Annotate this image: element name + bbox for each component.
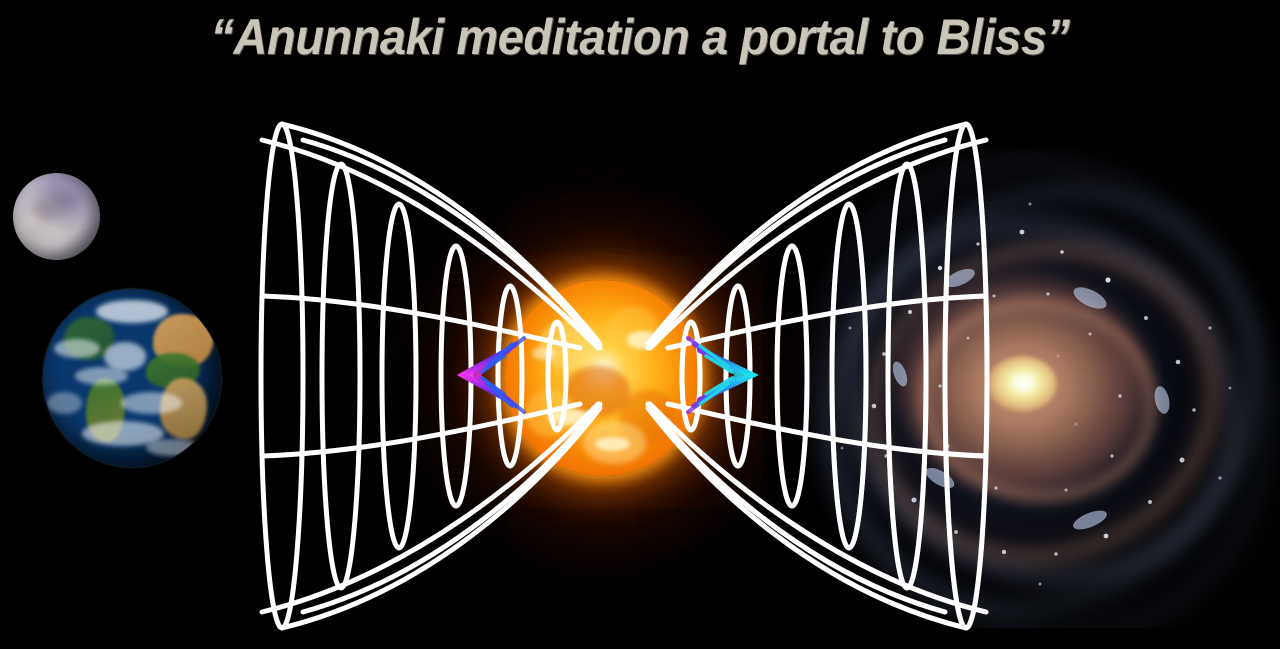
space-illustration-canvas: “Anunnaki meditation a portal to Bliss” — [0, 0, 1280, 649]
portal-energy-chevrons — [0, 0, 1280, 649]
right-chevron — [688, 338, 752, 412]
left-chevron — [463, 338, 524, 412]
